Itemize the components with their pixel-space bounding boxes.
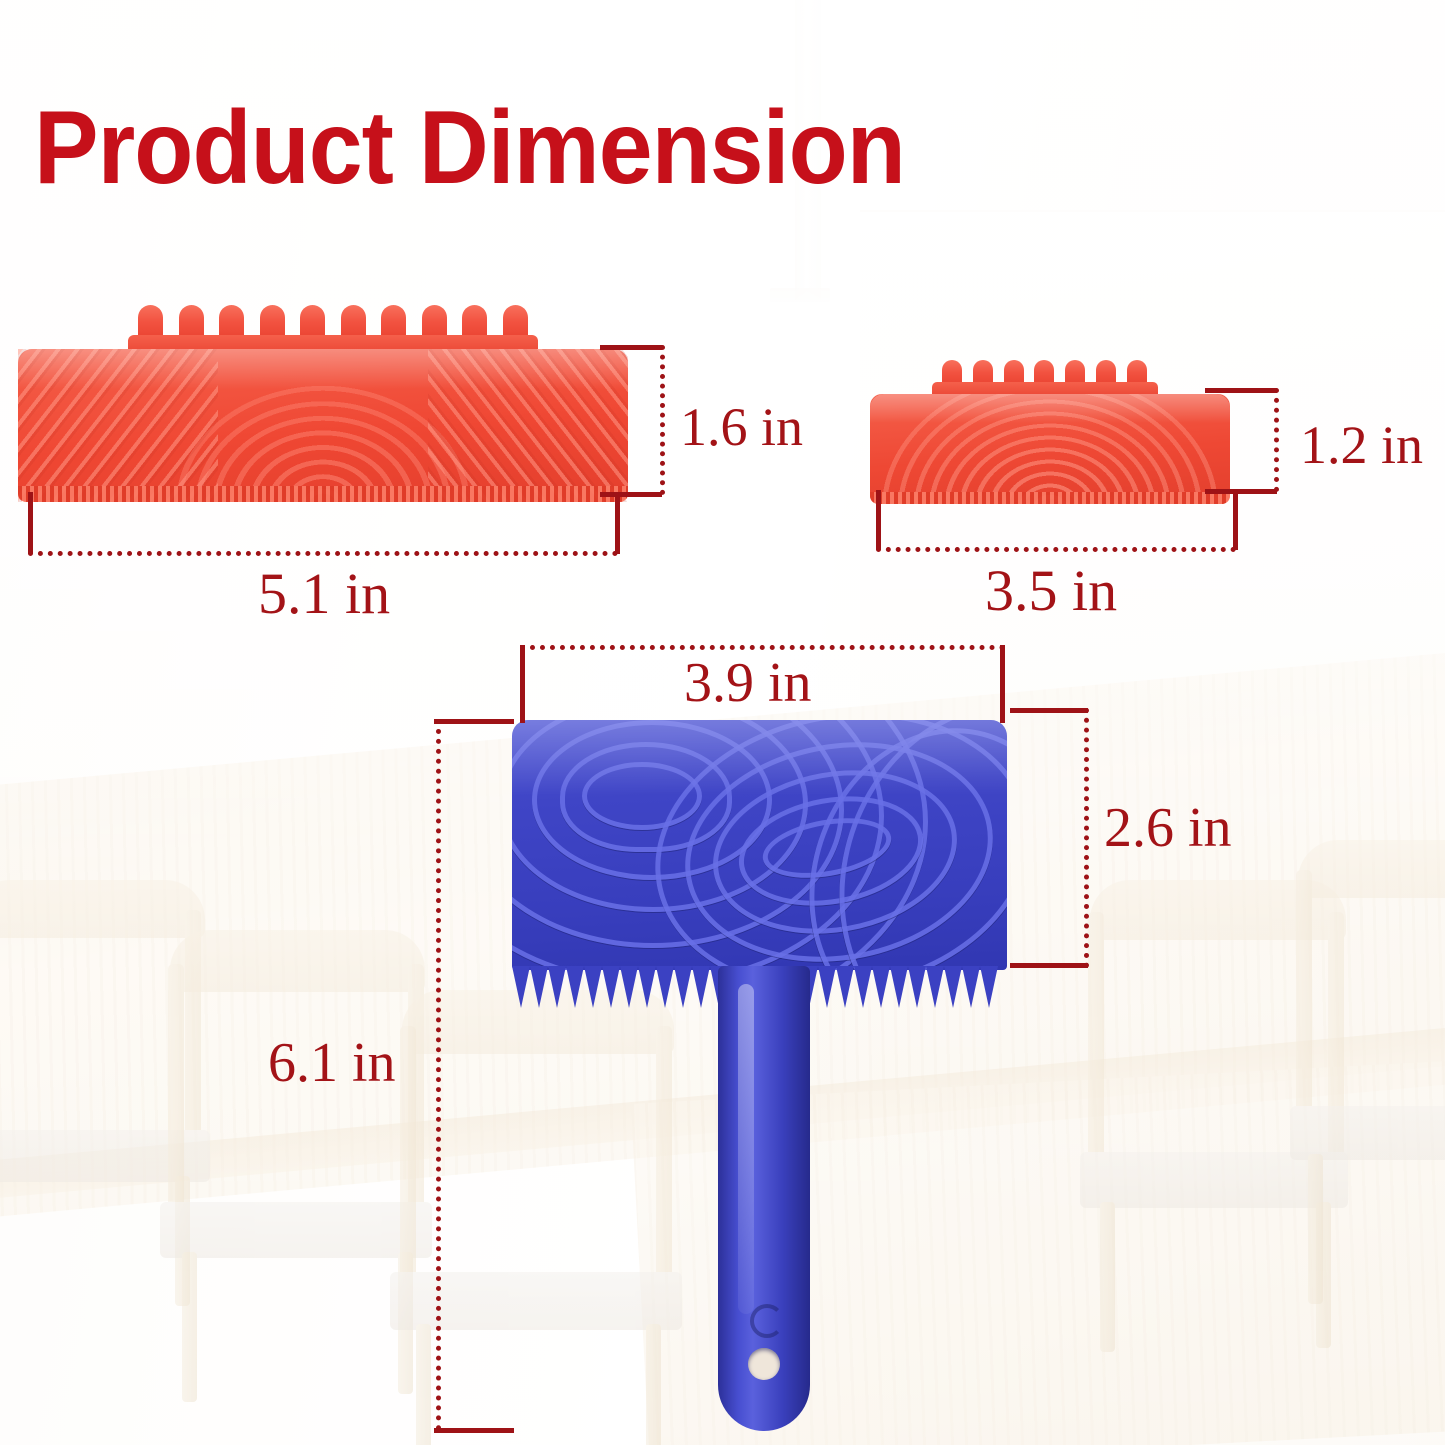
large-red-graining-tool <box>18 305 628 505</box>
dim-line-red1-height <box>660 345 665 495</box>
dim-label-blue-width: 3.9 in <box>684 655 812 711</box>
small-red-graining-tool <box>870 360 1230 505</box>
product-dimension-infographic: Product Dimension 1.6 in 5.1 in <box>0 0 1445 1445</box>
dim-label-red2-width: 3.5 in <box>985 562 1117 620</box>
hanging-hole <box>748 1348 780 1380</box>
dim-label-blue-head-height: 2.6 in <box>1104 800 1232 856</box>
dim-line-blue-width-right <box>1000 645 1005 723</box>
dim-line-blue-head-height-top <box>1010 708 1088 713</box>
dim-line-red2-width <box>876 547 1236 552</box>
dim-label-blue-total-height: 6.1 in <box>268 1035 396 1091</box>
dim-line-red2-height-bottom <box>1205 489 1277 494</box>
dim-label-red2-height: 1.2 in <box>1300 418 1423 472</box>
red-tool-body <box>18 349 628 502</box>
dim-line-red1-height-top <box>600 345 662 350</box>
dim-label-red1-height: 1.6 in <box>680 400 803 454</box>
dim-line-blue-total-top <box>434 719 514 724</box>
handle-circle-mark <box>750 1304 784 1338</box>
dim-line-blue-head-height-bottom <box>1010 963 1088 968</box>
page-title: Product Dimension <box>34 96 905 200</box>
dim-line-blue-width-left <box>520 645 525 723</box>
dim-line-red2-height <box>1274 388 1279 492</box>
dim-line-blue-head-height <box>1084 708 1089 968</box>
dim-line-red2-width-left <box>876 490 881 550</box>
dim-line-red1-height-bottom <box>600 492 662 497</box>
dim-line-red2-height-top <box>1205 388 1277 393</box>
blue-tool-handle <box>718 966 810 1431</box>
dim-line-blue-total-height <box>436 719 441 1431</box>
blue-graining-tool-head <box>512 720 1007 970</box>
dim-line-red2-width-right <box>1233 490 1238 550</box>
dim-line-red1-width-right <box>615 492 620 554</box>
dim-label-red1-width: 5.1 in <box>258 565 390 623</box>
dim-line-red1-width <box>28 551 618 556</box>
dim-line-blue-width <box>520 645 1005 650</box>
red-tool-small-body <box>870 394 1230 504</box>
dim-line-blue-total-bottom <box>434 1428 514 1433</box>
dim-line-red1-width-left <box>28 492 33 554</box>
